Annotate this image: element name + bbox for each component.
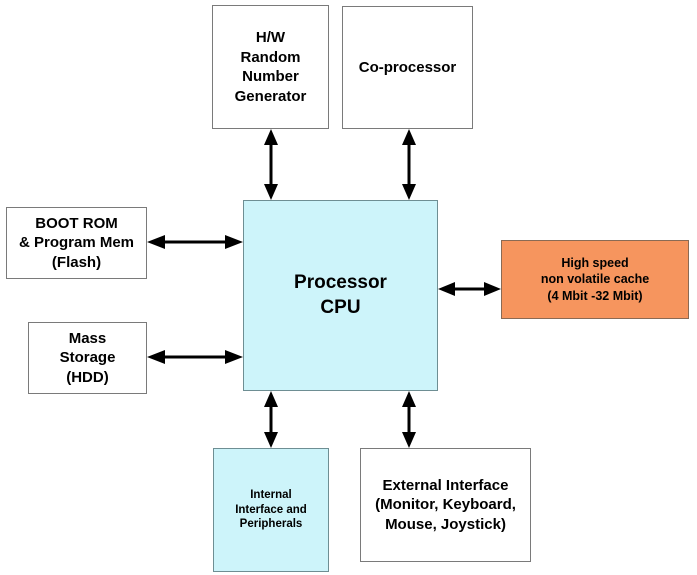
node-label-mass-storage: Mass Storage (HDD) (60, 329, 116, 388)
node-processor-cpu[interactable]: Processor CPU (243, 200, 438, 391)
node-co-processor[interactable]: Co-processor (342, 6, 473, 129)
connector-rng-to-cpu (262, 129, 280, 200)
node-label-coprocessor: Co-processor (359, 58, 457, 78)
connector-cpu-to-internal-interface (262, 391, 280, 448)
node-internal-interface-peripherals[interactable]: Internal Interface and Peripherals (213, 448, 329, 572)
connector-coprocessor-to-cpu (400, 129, 418, 200)
node-label-boot-rom: BOOT ROM & Program Mem (Flash) (19, 214, 134, 273)
double-arrow-horizontal-icon (147, 348, 243, 366)
node-hw-random-number-generator[interactable]: H/W Random Number Generator (212, 5, 329, 129)
connector-cpu-to-external-interface (400, 391, 418, 448)
node-label-cpu: Processor CPU (294, 271, 387, 320)
double-arrow-vertical-icon (400, 129, 418, 200)
node-label-rng: H/W Random Number Generator (235, 28, 307, 106)
connector-cpu-to-cache (438, 280, 501, 298)
double-arrow-horizontal-icon (147, 233, 243, 251)
node-label-cache: High speed non volatile cache (4 Mbit -3… (541, 255, 649, 304)
double-arrow-horizontal-icon (438, 280, 501, 298)
node-boot-rom-program-mem[interactable]: BOOT ROM & Program Mem (Flash) (6, 207, 147, 279)
double-arrow-vertical-icon (400, 391, 418, 448)
node-label-internal-interface: Internal Interface and Peripherals (235, 488, 307, 533)
node-high-speed-non-volatile-cache[interactable]: High speed non volatile cache (4 Mbit -3… (501, 240, 689, 319)
node-label-external-interface: External Interface (Monitor, Keyboard, M… (375, 476, 516, 535)
node-mass-storage-hdd[interactable]: Mass Storage (HDD) (28, 322, 147, 394)
double-arrow-vertical-icon (262, 391, 280, 448)
double-arrow-vertical-icon (262, 129, 280, 200)
block-diagram-canvas: H/W Random Number Generator Co-processor… (0, 0, 697, 575)
connector-boot-rom-to-cpu (147, 233, 243, 251)
connector-mass-storage-to-cpu (147, 348, 243, 366)
node-external-interface[interactable]: External Interface (Monitor, Keyboard, M… (360, 448, 531, 562)
